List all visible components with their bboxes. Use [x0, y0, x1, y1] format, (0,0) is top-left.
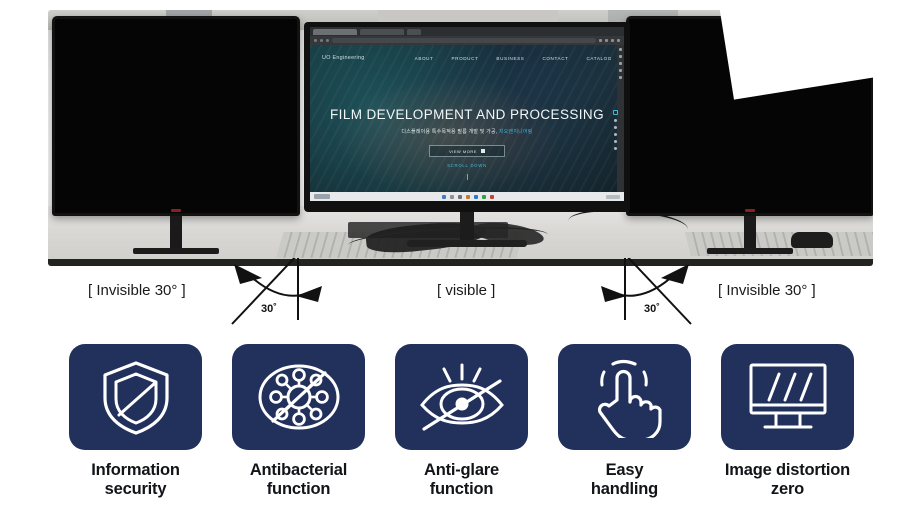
feature-anti-glare-function[interactable]: Anti-glare function	[395, 344, 528, 521]
feature-label-line2: handling	[591, 480, 658, 498]
monitor-center-bezel: UO Engineering ABOUT PRODUCT BUSINESS CO…	[304, 22, 630, 212]
label-invisible-right: [ Invisible 30° ]	[718, 282, 816, 299]
browser-tab[interactable]	[313, 29, 357, 35]
nav-item-catalog[interactable]: CATALOG	[587, 56, 612, 61]
eye-anti-glare-icon	[416, 359, 508, 435]
monitor-streaks-icon	[745, 360, 831, 434]
feature-label-line2: security	[105, 480, 167, 498]
side-panel-icon[interactable]	[619, 76, 622, 79]
angle-value-right: 30˚	[644, 303, 660, 315]
view-more-label: VIEW MORE	[449, 149, 477, 154]
slide-indicator[interactable]	[613, 110, 618, 150]
monitor-left-led	[171, 209, 181, 212]
menu-icon[interactable]	[617, 39, 620, 42]
shield-icon	[99, 358, 173, 436]
feature-label: Anti-glare function	[424, 461, 499, 499]
feature-label-line1: Information	[91, 461, 180, 479]
feature-information-security[interactable]: Information security	[69, 344, 202, 521]
tapping-hand-icon	[587, 356, 663, 438]
hero-title: FILM DEVELOPMENT AND PROCESSING	[310, 107, 624, 122]
label-invisible-left: [ Invisible 30° ]	[88, 282, 186, 299]
arrow-icon	[481, 149, 485, 153]
start-icon[interactable]	[442, 195, 446, 199]
search-icon[interactable]	[450, 195, 454, 199]
hero-subtitle: 디스플레이용 특수목적용 필름 개발 및 가공, 지오엔지니어링	[310, 128, 624, 135]
feature-image-distortion-zero[interactable]: Image distortion zero	[721, 344, 854, 521]
address-input[interactable]	[332, 38, 596, 43]
edge-icon[interactable]	[474, 195, 478, 199]
monitor-center-neck	[460, 212, 474, 242]
side-panel-icon[interactable]	[619, 62, 622, 65]
slide-indicator-dot[interactable]	[614, 147, 617, 150]
slide-indicator-dot[interactable]	[614, 133, 617, 136]
label-visible-center: [ visible ]	[437, 282, 495, 299]
monitor-left-foot	[133, 248, 219, 254]
feature-label: Antibacterial function	[250, 461, 347, 499]
explorer-icon[interactable]	[466, 195, 470, 199]
feature-tile[interactable]	[69, 344, 202, 450]
slide-indicator-dot[interactable]	[614, 126, 617, 129]
chrome-icon[interactable]	[490, 195, 494, 199]
bookmark-icon[interactable]	[599, 39, 602, 42]
website-nav[interactable]: UO Engineering ABOUT PRODUCT BUSINESS CO…	[310, 55, 624, 61]
virus-blocked-icon	[257, 359, 341, 435]
scroll-down-hint[interactable]: SCROLL DOWN	[310, 154, 624, 180]
website-logo[interactable]: UO Engineering	[322, 55, 365, 61]
scroll-down-label: SCROLL DOWN	[447, 163, 487, 168]
website-menu[interactable]: ABOUT PRODUCT BUSINESS CONTACT CATALOG	[415, 56, 612, 61]
hero-subtitle-accent: 지오엔지니어링	[499, 129, 533, 135]
viewing-angle-diagram: [ Invisible 30° ] [ visible ] [ Invisibl…	[0, 258, 923, 346]
feature-label-line1: Anti-glare	[424, 461, 499, 479]
feature-tile[interactable]	[395, 344, 528, 450]
angle-value-left: 30˚	[261, 303, 277, 315]
feature-label-line2: function	[430, 480, 493, 498]
taskbar-clock[interactable]	[606, 195, 620, 199]
monitor-left-blacked-out	[52, 16, 300, 216]
monitor-right-neck	[744, 216, 756, 250]
slide-indicator-dot[interactable]	[614, 119, 617, 122]
hero-block: FILM DEVELOPMENT AND PROCESSING 디스플레이용 특…	[310, 107, 624, 157]
taskbar-app-icons[interactable]	[442, 195, 494, 199]
feature-tile[interactable]	[721, 344, 854, 450]
feature-easy-handling[interactable]: Easy handling	[558, 344, 691, 521]
browser-new-tab-button[interactable]	[407, 29, 421, 35]
monitor-center-foot	[407, 240, 527, 247]
profile-icon[interactable]	[611, 39, 614, 42]
nav-item-contact[interactable]: CONTACT	[542, 56, 568, 61]
angle-diagram-svg	[0, 258, 923, 346]
monitor-center-visible: UO Engineering ABOUT PRODUCT BUSINESS CO…	[304, 22, 630, 212]
side-panel-icon[interactable]	[619, 48, 622, 51]
scroll-down-arrow-icon	[467, 174, 468, 180]
feature-tile[interactable]	[558, 344, 691, 450]
feature-label: Easy handling	[591, 461, 658, 499]
arrowhead-right-lower	[601, 286, 627, 302]
feature-antibacterial-function[interactable]: Antibacterial function	[232, 344, 365, 521]
arrowhead-left-lower	[296, 286, 322, 302]
nav-item-about[interactable]: ABOUT	[415, 56, 434, 61]
taskbar-weather-widget[interactable]	[314, 194, 330, 199]
mail-icon[interactable]	[482, 195, 486, 199]
browser-url-bar[interactable]	[310, 36, 624, 45]
side-panel-icon[interactable]	[619, 69, 622, 72]
reload-icon[interactable]	[326, 39, 329, 42]
feature-tile[interactable]	[232, 344, 365, 450]
monitor-left-panel	[52, 16, 300, 216]
monitor-left-neck	[170, 216, 182, 250]
browser-tab[interactable]	[360, 29, 404, 35]
monitor-right-foot	[707, 248, 793, 254]
back-icon[interactable]	[314, 39, 317, 42]
feature-label: Information security	[91, 461, 180, 499]
feature-label-line1: Antibacterial	[250, 461, 347, 479]
browser-toolbar-icons[interactable]	[599, 39, 620, 42]
feature-label-line2: zero	[771, 480, 804, 498]
page-root: UO Engineering ABOUT PRODUCT BUSINESS CO…	[0, 0, 923, 521]
nav-item-product[interactable]: PRODUCT	[452, 56, 479, 61]
feature-label-line1: Image distortion	[725, 461, 850, 479]
website-hero: UO Engineering ABOUT PRODUCT BUSINESS CO…	[310, 45, 624, 192]
task-view-icon[interactable]	[458, 195, 462, 199]
monitor-right-led	[745, 209, 755, 212]
hero-subtitle-text: 디스플레이용 특수목적용 필름 개발 및 가공,	[401, 129, 499, 135]
feature-label-line2: function	[267, 480, 330, 498]
decorative-corner-wedge	[715, 0, 923, 100]
extensions-icon[interactable]	[605, 39, 608, 42]
mouse	[791, 232, 833, 248]
monitor-center-screen: UO Engineering ABOUT PRODUCT BUSINESS CO…	[310, 27, 624, 201]
windows-taskbar[interactable]	[310, 192, 624, 201]
nav-item-business[interactable]: BUSINESS	[496, 56, 524, 61]
slide-indicator-active[interactable]	[613, 110, 618, 115]
slide-indicator-dot[interactable]	[614, 140, 617, 143]
forward-icon[interactable]	[320, 39, 323, 42]
feature-label-line1: Easy	[606, 461, 644, 479]
feature-list: Information security	[0, 344, 923, 521]
browser-tab-bar[interactable]	[310, 27, 624, 36]
feature-label: Image distortion zero	[725, 461, 850, 499]
